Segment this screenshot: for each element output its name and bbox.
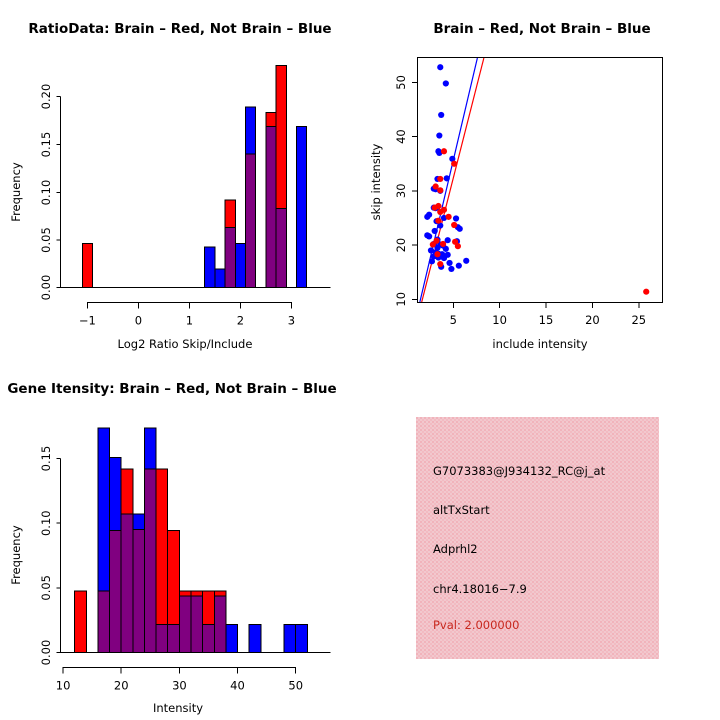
histogram-bar-overlap <box>121 514 133 653</box>
histogram-bar-blue <box>226 624 238 652</box>
histogram-bar-red <box>214 591 226 596</box>
scatter-point <box>446 260 452 266</box>
histogram-bar-red <box>203 591 215 624</box>
regression-line <box>422 58 484 302</box>
scatter-point <box>437 209 443 215</box>
info-locus: chr4.18016−7.9 <box>433 582 527 596</box>
histogram-bar-blue <box>144 428 156 469</box>
gene-y-tick-2: 0.10 <box>39 510 53 536</box>
gene-info-panel: G7073383@J934132_RC@j_at altTxStart Adpr… <box>360 360 720 720</box>
scatter-fit-lines <box>420 58 484 302</box>
scatter-point <box>457 226 463 232</box>
histogram-bar-blue <box>249 624 261 652</box>
scatter-points <box>424 64 649 295</box>
scatter-x-axis: 510152025 <box>450 302 646 327</box>
histogram-bar-overlap <box>98 591 110 653</box>
histogram-bar-blue <box>284 624 296 652</box>
scatter-point <box>441 148 447 154</box>
scatter-point <box>426 233 432 239</box>
ratio-y-tick-3: 0.15 <box>39 132 53 158</box>
histogram-bar-red <box>121 469 133 514</box>
scatter-point <box>434 251 440 257</box>
y-tick-label: 30 <box>394 183 408 198</box>
histogram-bar-overlap <box>168 624 180 652</box>
scatter-point <box>446 214 452 220</box>
histogram-bar-overlap <box>225 228 235 288</box>
histogram-bar-overlap <box>203 624 215 652</box>
scatter-point <box>437 187 443 193</box>
histogram-bar-blue <box>235 243 245 287</box>
ratio-histogram-bars <box>82 66 306 288</box>
histogram-bar-overlap <box>191 596 203 652</box>
scatter-point <box>456 263 462 269</box>
scatter-point <box>432 205 438 211</box>
ratio-x-axis-label: Log2 Ratio Skip/Include <box>118 337 253 351</box>
gene-histogram-bars <box>75 428 308 653</box>
scatter-point <box>430 241 436 247</box>
scatter-title: Brain – Red, Not Brain – Blue <box>433 21 650 37</box>
histogram-bar-overlap <box>110 531 122 653</box>
ratio-histogram-panel: RatioData: Brain – Red, Not Brain – Blue… <box>0 0 360 360</box>
scatter-point <box>437 64 443 70</box>
ratio-y-axis-label: Frequency <box>9 162 23 222</box>
info-probe-id: G7073383@J934132_RC@j_at <box>433 464 605 478</box>
ratio-histogram-y-axis: 0.20 0.15 0.10 0.05 0.00 Frequency <box>9 84 61 301</box>
x-tick-label: 10 <box>56 679 71 693</box>
y-tick-label: 50 <box>394 75 408 90</box>
histogram-bar-overlap <box>266 126 276 287</box>
histogram-bar-blue <box>215 269 225 287</box>
gene-histogram-title: Gene Itensity: Brain – Red, Not Brain – … <box>7 381 336 397</box>
scatter-svg: Brain – Red, Not Brain – Blue 1020304050… <box>360 0 720 360</box>
gene-histogram-panel: Gene Itensity: Brain – Red, Not Brain – … <box>0 360 360 720</box>
histogram-bar-overlap <box>246 154 256 287</box>
gene-histogram-y-axis: 0.15 0.10 0.05 0.00 Frequency <box>9 446 61 666</box>
ratio-y-tick-4: 0.20 <box>39 84 53 110</box>
gene-histogram-x-axis: 1020304050 <box>56 668 303 693</box>
gene-histogram-svg: Gene Itensity: Brain – Red, Not Brain – … <box>0 360 360 720</box>
figure-canvas: RatioData: Brain – Red, Not Brain – Blue… <box>0 0 720 720</box>
x-tick-label: 10 <box>492 313 507 327</box>
histogram-bar-red <box>276 66 286 209</box>
histogram-bar-red <box>179 591 191 596</box>
ratio-y-tick-2: 0.10 <box>39 180 53 206</box>
histogram-bar-blue <box>205 247 215 287</box>
ratio-y-tick-0: 0.00 <box>39 275 53 301</box>
x-tick-label: 20 <box>114 679 129 693</box>
y-tick-label: 40 <box>394 129 408 144</box>
x-tick-label: 2 <box>237 314 244 328</box>
scatter-point <box>441 255 447 261</box>
info-gene-symbol: Adprhl2 <box>433 542 478 556</box>
scatter-plot-frame <box>418 58 663 303</box>
scatter-point <box>643 289 649 295</box>
x-tick-label: 20 <box>585 313 600 327</box>
scatter-point <box>424 214 430 220</box>
scatter-point <box>448 266 454 272</box>
scatter-point <box>443 80 449 86</box>
scatter-y-axis: 1020304050 <box>394 75 418 307</box>
ratio-y-tick-1: 0.05 <box>39 227 53 253</box>
scatter-panel: Brain – Red, Not Brain – Blue 1020304050… <box>360 0 720 360</box>
scatter-y-axis-label: skip intensity <box>369 143 383 220</box>
scatter-point <box>444 175 450 181</box>
histogram-bar-overlap <box>214 596 226 652</box>
histogram-bar-red <box>225 200 235 228</box>
histogram-bar-overlap <box>133 529 145 652</box>
ratio-histogram-svg: RatioData: Brain – Red, Not Brain – Blue… <box>0 0 360 360</box>
x-tick-label: 0 <box>135 314 142 328</box>
x-tick-label: 25 <box>631 313 646 327</box>
x-tick-label: 3 <box>288 314 295 328</box>
x-tick-label: 50 <box>288 679 303 693</box>
histogram-bar-blue <box>296 624 308 652</box>
x-tick-label: 30 <box>172 679 187 693</box>
scatter-point <box>436 132 442 138</box>
histogram-bar-overlap <box>276 208 286 287</box>
scatter-point <box>435 218 441 224</box>
scatter-point <box>455 243 461 249</box>
x-tick-label: −1 <box>79 314 96 328</box>
y-tick-label: 20 <box>394 238 408 253</box>
y-tick-label: 10 <box>394 292 408 307</box>
histogram-bar-red <box>156 469 168 624</box>
histogram-bar-overlap <box>156 624 168 652</box>
scatter-point <box>432 228 438 234</box>
scatter-point <box>463 258 469 264</box>
gene-y-tick-0: 0.00 <box>39 640 53 666</box>
histogram-bar-red <box>168 531 180 625</box>
histogram-bar-blue <box>133 514 145 529</box>
histogram-bar-red <box>266 113 276 127</box>
histogram-bar-blue <box>297 126 307 287</box>
histogram-bar-red <box>191 591 203 596</box>
gene-y-tick-3: 0.15 <box>39 446 53 472</box>
scatter-point <box>451 222 457 228</box>
x-tick-label: 5 <box>450 313 457 327</box>
scatter-x-axis-label: include intensity <box>492 337 587 351</box>
histogram-bar-overlap <box>144 469 156 653</box>
gene-y-tick-1: 0.05 <box>39 575 53 601</box>
histogram-bar-overlap <box>179 596 191 652</box>
info-event-type: altTxStart <box>433 503 490 517</box>
x-tick-label: 1 <box>186 314 193 328</box>
x-tick-label: 15 <box>539 313 554 327</box>
x-tick-label: 40 <box>230 679 245 693</box>
gene-y-axis-label: Frequency <box>9 525 23 585</box>
scatter-point <box>429 258 435 264</box>
gene-x-axis-label: Intensity <box>153 701 203 715</box>
scatter-point <box>451 161 457 167</box>
histogram-bar-blue <box>246 107 256 154</box>
scatter-point <box>437 176 443 182</box>
ratio-histogram-x-axis: −10123 <box>79 303 295 328</box>
histogram-bar-blue <box>110 457 122 530</box>
scatter-point <box>438 112 444 118</box>
ratio-histogram-title: RatioData: Brain – Red, Not Brain – Blue <box>28 21 331 37</box>
scatter-point <box>453 215 459 221</box>
info-pval: Pval: 2.000000 <box>433 618 519 632</box>
histogram-bar-red <box>82 243 92 287</box>
histogram-bar-blue <box>98 428 110 591</box>
scatter-point <box>440 241 446 247</box>
scatter-point <box>437 261 443 267</box>
histogram-bar-red <box>75 591 87 653</box>
